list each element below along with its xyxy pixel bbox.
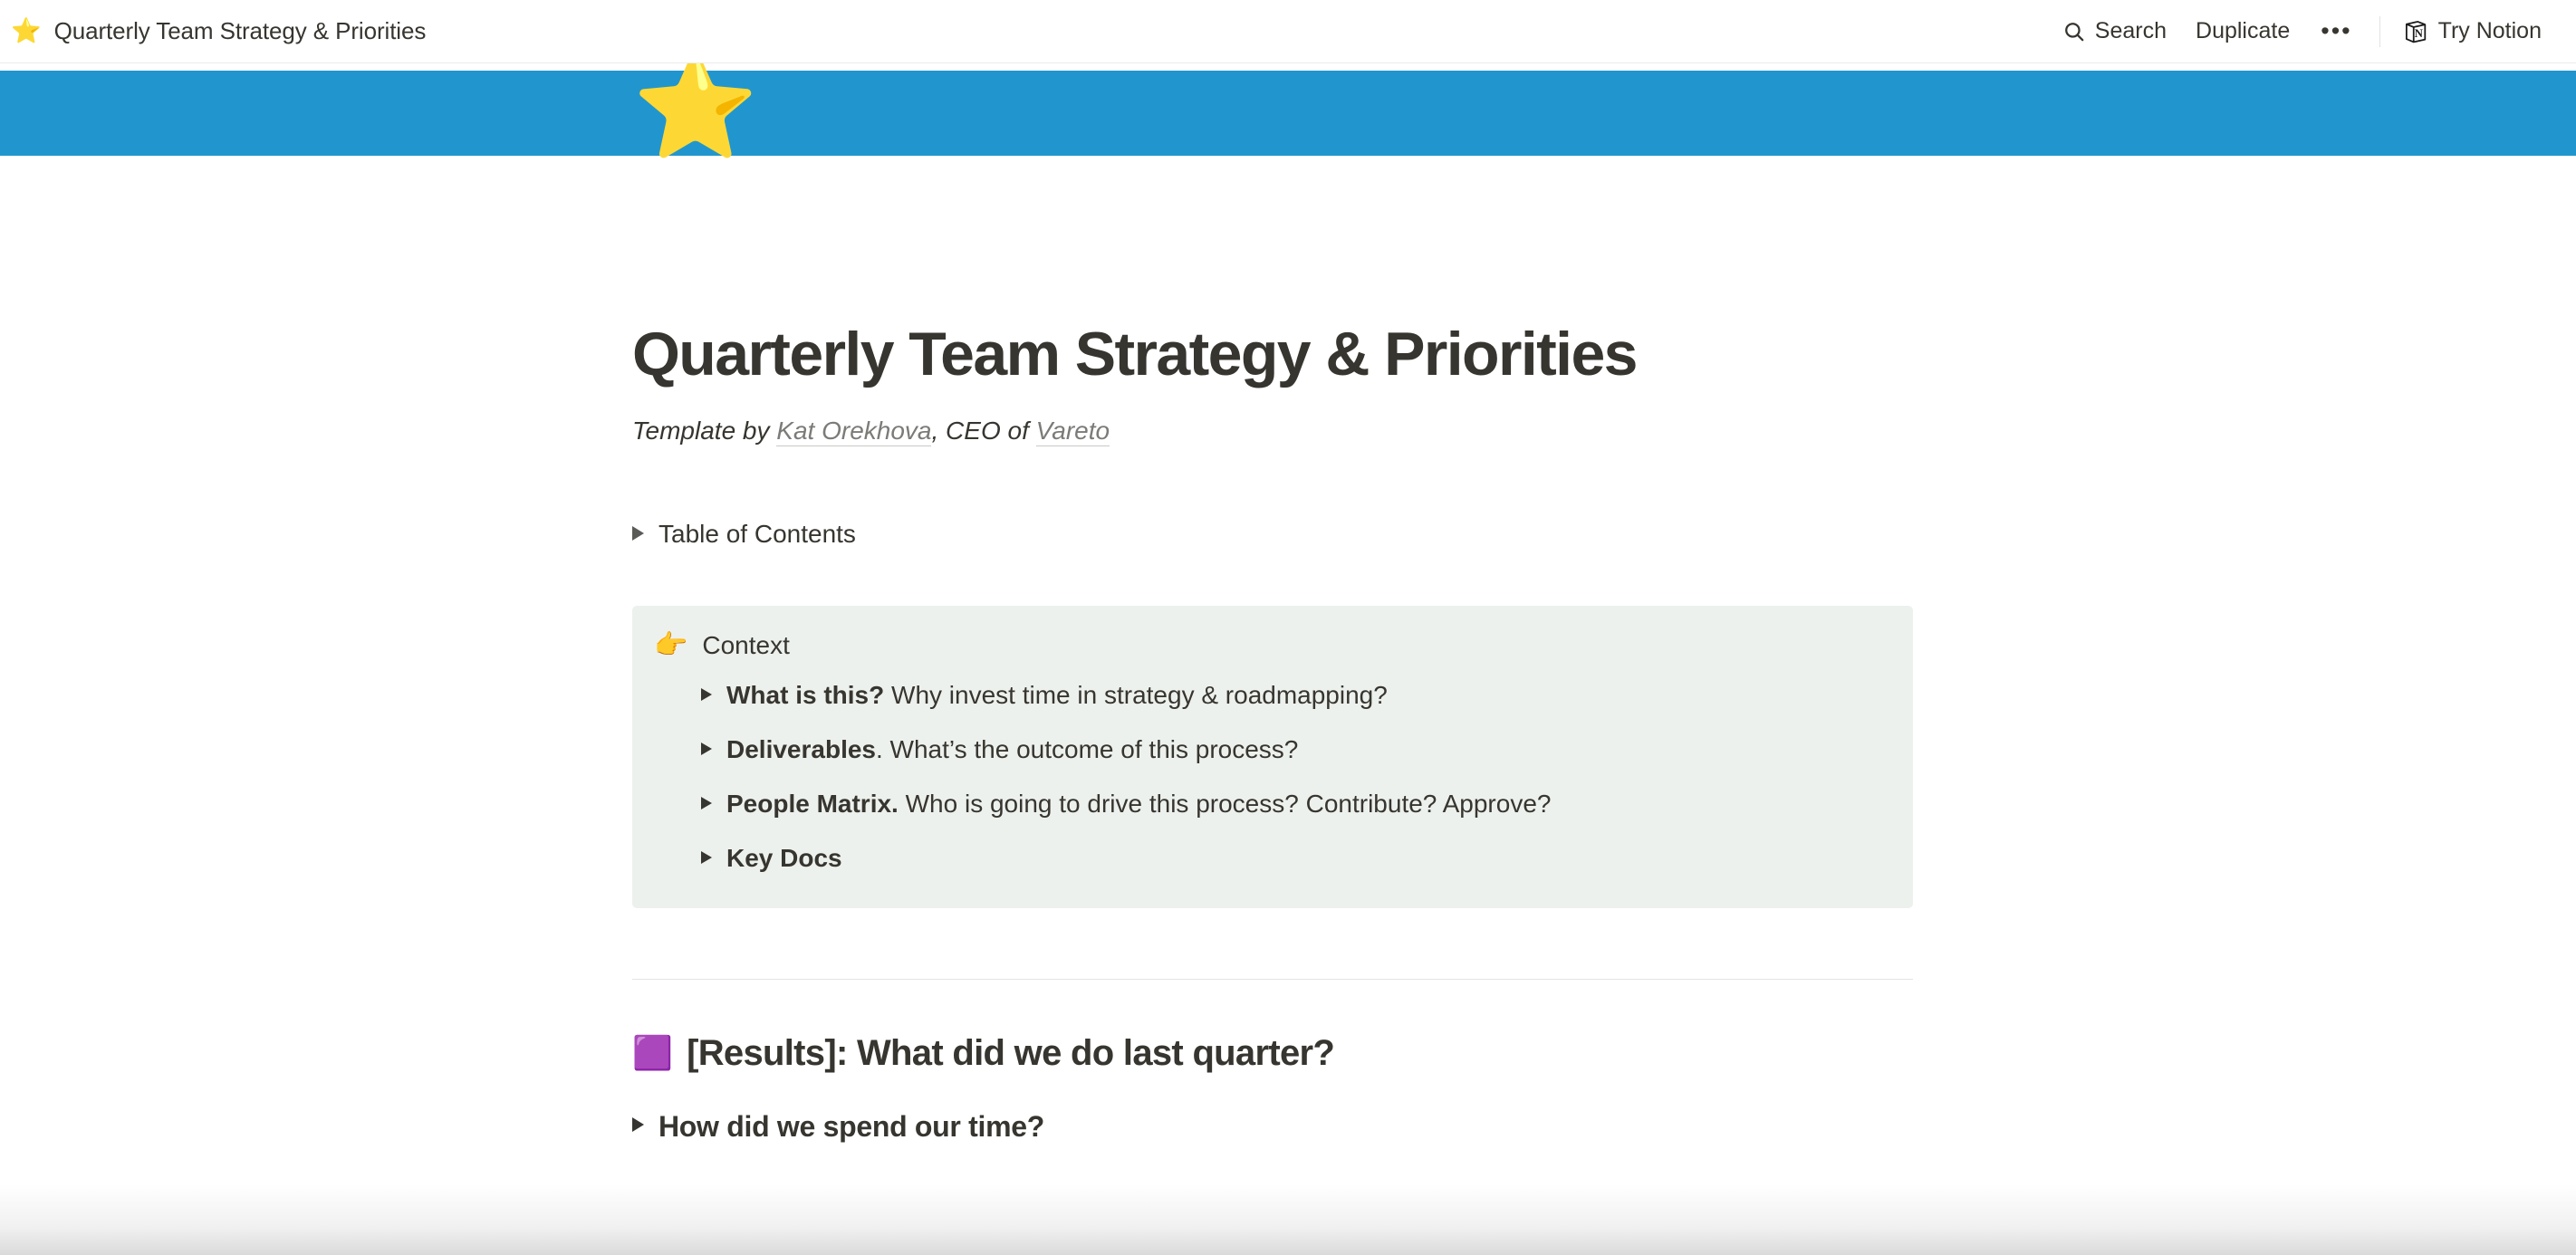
author-link[interactable]: Kat Orekhova (776, 417, 931, 446)
results-heading-text: [Results]: What did we do last quarter? (687, 1030, 1334, 1076)
results-section-heading: 🟪 [Results]: What did we do last quarter… (632, 980, 1913, 1076)
page-icon-star-emoji[interactable]: ⭐ (632, 56, 758, 158)
page-title: Quarterly Team Strategy & Priorities (632, 156, 1913, 388)
bottom-shadow-overlay (0, 1184, 2576, 1255)
toggle-label-rest: . What’s the outcome of this process? (876, 735, 1298, 763)
toggle-label-rest: Who is going to drive this process? Cont… (899, 790, 1552, 818)
duplicate-label: Duplicate (2196, 18, 2290, 44)
toolbar-divider (2379, 16, 2380, 47)
chevron-right-icon[interactable] (632, 1117, 644, 1132)
try-notion-button[interactable]: N Try Notion (2398, 11, 2556, 53)
toggle-deliverables[interactable]: Deliverables. What’s the outcome of this… (701, 731, 1886, 769)
callout-header: 👉 Context (654, 627, 1886, 665)
topbar-left-group: ⭐ Quarterly Team Strategy & Priorities (0, 17, 426, 45)
search-label: Search (2095, 18, 2167, 44)
search-button[interactable]: Search (2048, 11, 2181, 52)
toggle-table-of-contents[interactable]: Table of Contents (632, 515, 1913, 553)
chevron-right-icon[interactable] (701, 851, 712, 864)
byline-prefix: Template by (632, 417, 776, 445)
toggle-label: Key Docs (726, 839, 842, 877)
chevron-right-icon[interactable] (701, 742, 712, 755)
page-content: ⭐ Quarterly Team Strategy & Priorities T… (632, 156, 1913, 1148)
try-notion-label: Try Notion (2438, 18, 2542, 44)
toggle-label: People Matrix. Who is going to drive thi… (726, 785, 1551, 823)
search-icon (2062, 20, 2086, 43)
star-icon: ⭐ (11, 19, 42, 43)
topbar-actions: Search Duplicate ••• N Try Notion (2048, 11, 2576, 53)
notion-template-page: ⭐ Quarterly Team Strategy & Priorities S… (0, 0, 2576, 1255)
top-navigation-bar: ⭐ Quarterly Team Strategy & Priorities S… (0, 0, 2576, 63)
byline-middle: , CEO of (931, 417, 1035, 445)
context-callout: 👉 Context What is this? Why invest time … (632, 606, 1913, 909)
toggle-key-docs[interactable]: Key Docs (701, 839, 1886, 877)
toggle-people-matrix[interactable]: People Matrix. Who is going to drive thi… (701, 785, 1886, 823)
toggle-how-did-we-spend-our-time[interactable]: How did we spend our time? (632, 1105, 1913, 1148)
toggle-label-bold: Key Docs (726, 844, 842, 872)
toc-label: Table of Contents (658, 515, 856, 553)
toggle-label-rest: Why invest time in strategy & roadmappin… (884, 681, 1388, 709)
chevron-right-icon[interactable] (701, 688, 712, 701)
notion-logo-icon: N (2402, 18, 2429, 45)
cover-banner[interactable] (0, 71, 2576, 156)
toggle-label-bold: Deliverables (726, 735, 876, 763)
svg-text:N: N (2414, 27, 2422, 40)
chevron-right-icon[interactable] (632, 526, 644, 541)
callout-title: Context (702, 627, 790, 663)
purple-square-icon: 🟪 (632, 1037, 672, 1069)
company-link[interactable]: Vareto (1036, 417, 1110, 446)
callout-toggle-list: What is this? Why invest time in strateg… (654, 676, 1886, 877)
toggle-label: Deliverables. What’s the outcome of this… (726, 731, 1298, 769)
topbar-page-title: Quarterly Team Strategy & Priorities (54, 17, 427, 45)
pointing-right-icon: 👉 (654, 627, 687, 665)
toggle-label-bold: People Matrix. (726, 790, 899, 818)
chevron-right-icon[interactable] (701, 797, 712, 810)
more-options-button[interactable]: ••• (2304, 12, 2368, 51)
toggle-label-bold: What is this? (726, 681, 884, 709)
duplicate-button[interactable]: Duplicate (2181, 11, 2304, 52)
byline: Template by Kat Orekhova, CEO of Vareto (632, 412, 1913, 450)
toggle-what-is-this[interactable]: What is this? Why invest time in strateg… (701, 676, 1886, 714)
toggle-label: What is this? Why invest time in strateg… (726, 676, 1388, 714)
subtoggle-label: How did we spend our time? (658, 1105, 1044, 1148)
